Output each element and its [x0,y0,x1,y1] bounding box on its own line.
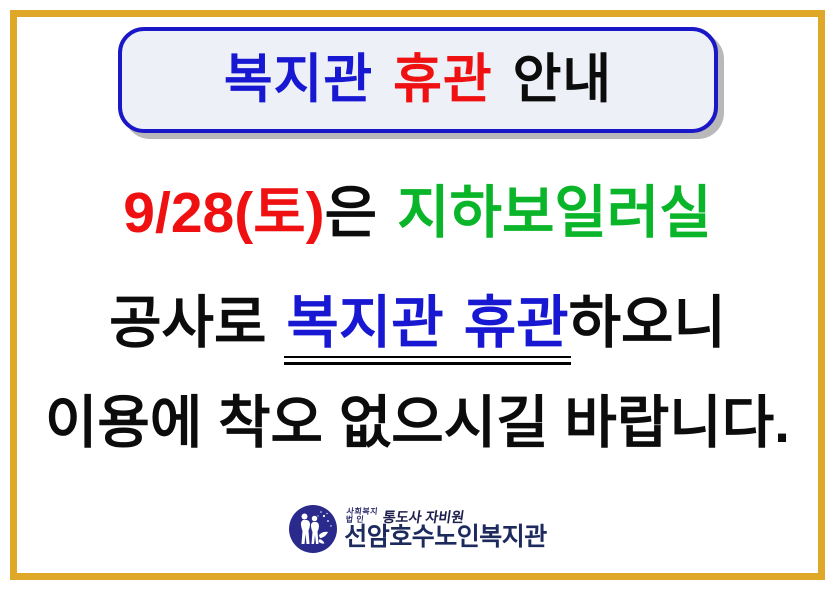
logo-organization-name: 선암호수노인복지관 [344,525,547,550]
notice-date: 9/28(토) [123,181,324,245]
title-banner-box: 복지관휴관안내 [118,27,718,133]
title-part-facility: 복지관 [224,50,373,109]
title-banner: 복지관휴관안내 [118,27,718,133]
notice-closure-word: 휴관 [464,291,569,355]
logo-text-block: 사회복지 법 인 통도사 자비원 선암호수노인복지관 [344,508,547,551]
poster-content: 복지관휴관안내 9/28(토)은지하보일러실 공사로복지관휴관하오니 이용에 착… [17,17,818,573]
organization-logo: 사회복지 법 인 통도사 자비원 선암호수노인복지관 [17,501,818,557]
notice-line-1: 9/28(토)은지하보일러실 [17,185,818,242]
notice-reason: 공사로 [109,291,266,355]
notice-date-particle: 은 [325,181,377,245]
title-part-notice: 안내 [513,50,613,109]
notice-location: 지하보일러실 [397,181,712,245]
notice-closure-emphasis: 복지관휴관 [286,295,568,354]
notice-closure-suffix: 하오니 [569,291,726,355]
logo-subtitle: 사회복지 법 인 통도사 자비원 [344,508,464,525]
welfare-center-emblem-icon [288,504,338,554]
notice-closure-facility: 복지관 [286,291,443,355]
logo-foundation-name: 통도사 자비원 [382,510,465,524]
logo-corporation-line-2: 법 인 [345,516,377,524]
notice-line-3: 이용에 착오 없으시길 바랍니다. [17,395,818,452]
logo-corporation-label: 사회복지 법 인 [345,508,378,525]
page-title: 복지관휴관안내 [224,53,612,106]
title-part-closure: 휴관 [393,50,493,109]
notice-line-2: 공사로복지관휴관하오니 [17,295,818,354]
notice-poster: 복지관휴관안내 9/28(토)은지하보일러실 공사로복지관휴관하오니 이용에 착… [0,0,835,590]
